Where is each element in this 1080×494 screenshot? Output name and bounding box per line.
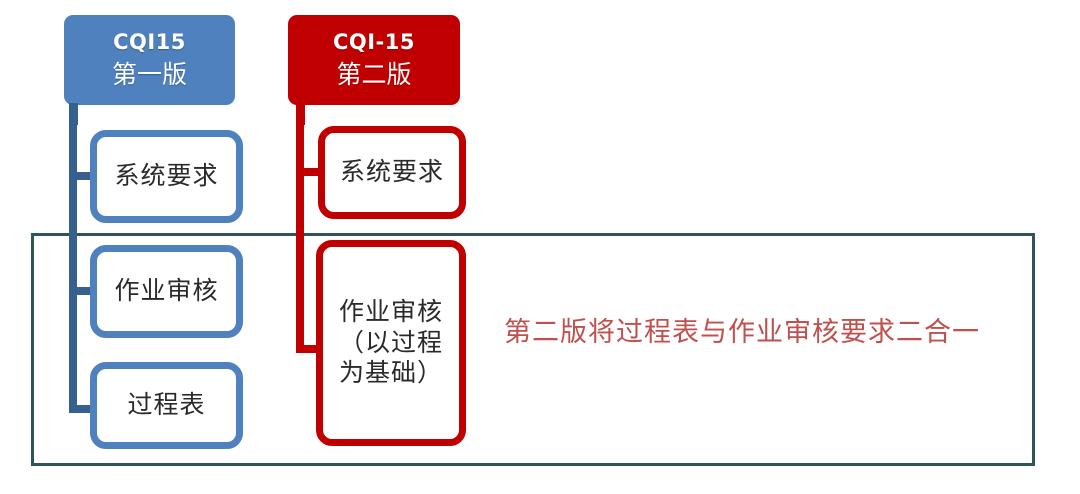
trunk-second-edition <box>296 118 304 353</box>
node-first-edition-sys-req[interactable]: 系统要求 <box>90 130 243 223</box>
header-box-second-edition[interactable]: CQI-15 第二版 <box>288 15 460 105</box>
node-label: 过程表 <box>127 390 205 421</box>
diagram-canvas: CQI15 第一版 系统要求 作业审核 过程表 CQI-15 第二版 系统要求 … <box>0 0 1080 494</box>
node-first-edition-job-audit[interactable]: 作业审核 <box>90 245 243 338</box>
header-box-first-edition[interactable]: CQI15 第一版 <box>64 15 235 105</box>
merge-annotation-text: 第二版将过程表与作业审核要求二合一 <box>504 310 980 349</box>
trunk-first-edition <box>69 118 77 413</box>
header-version-second-edition: 第二版 <box>336 60 411 90</box>
header-code-second-edition: CQI-15 <box>333 30 415 54</box>
node-label: 作业审核 <box>114 276 218 307</box>
header-version-first-edition: 第一版 <box>112 60 187 90</box>
node-label: 系统要求 <box>340 157 444 188</box>
node-label: 系统要求 <box>114 161 218 192</box>
node-second-edition-sys-req[interactable]: 系统要求 <box>318 126 466 219</box>
header-code-first-edition: CQI15 <box>113 30 186 54</box>
node-label: 作业审核 （以过程 为基础） <box>339 297 443 389</box>
node-first-edition-process-table[interactable]: 过程表 <box>90 362 243 449</box>
node-second-edition-job-audit-process[interactable]: 作业审核 （以过程 为基础） <box>316 240 466 446</box>
